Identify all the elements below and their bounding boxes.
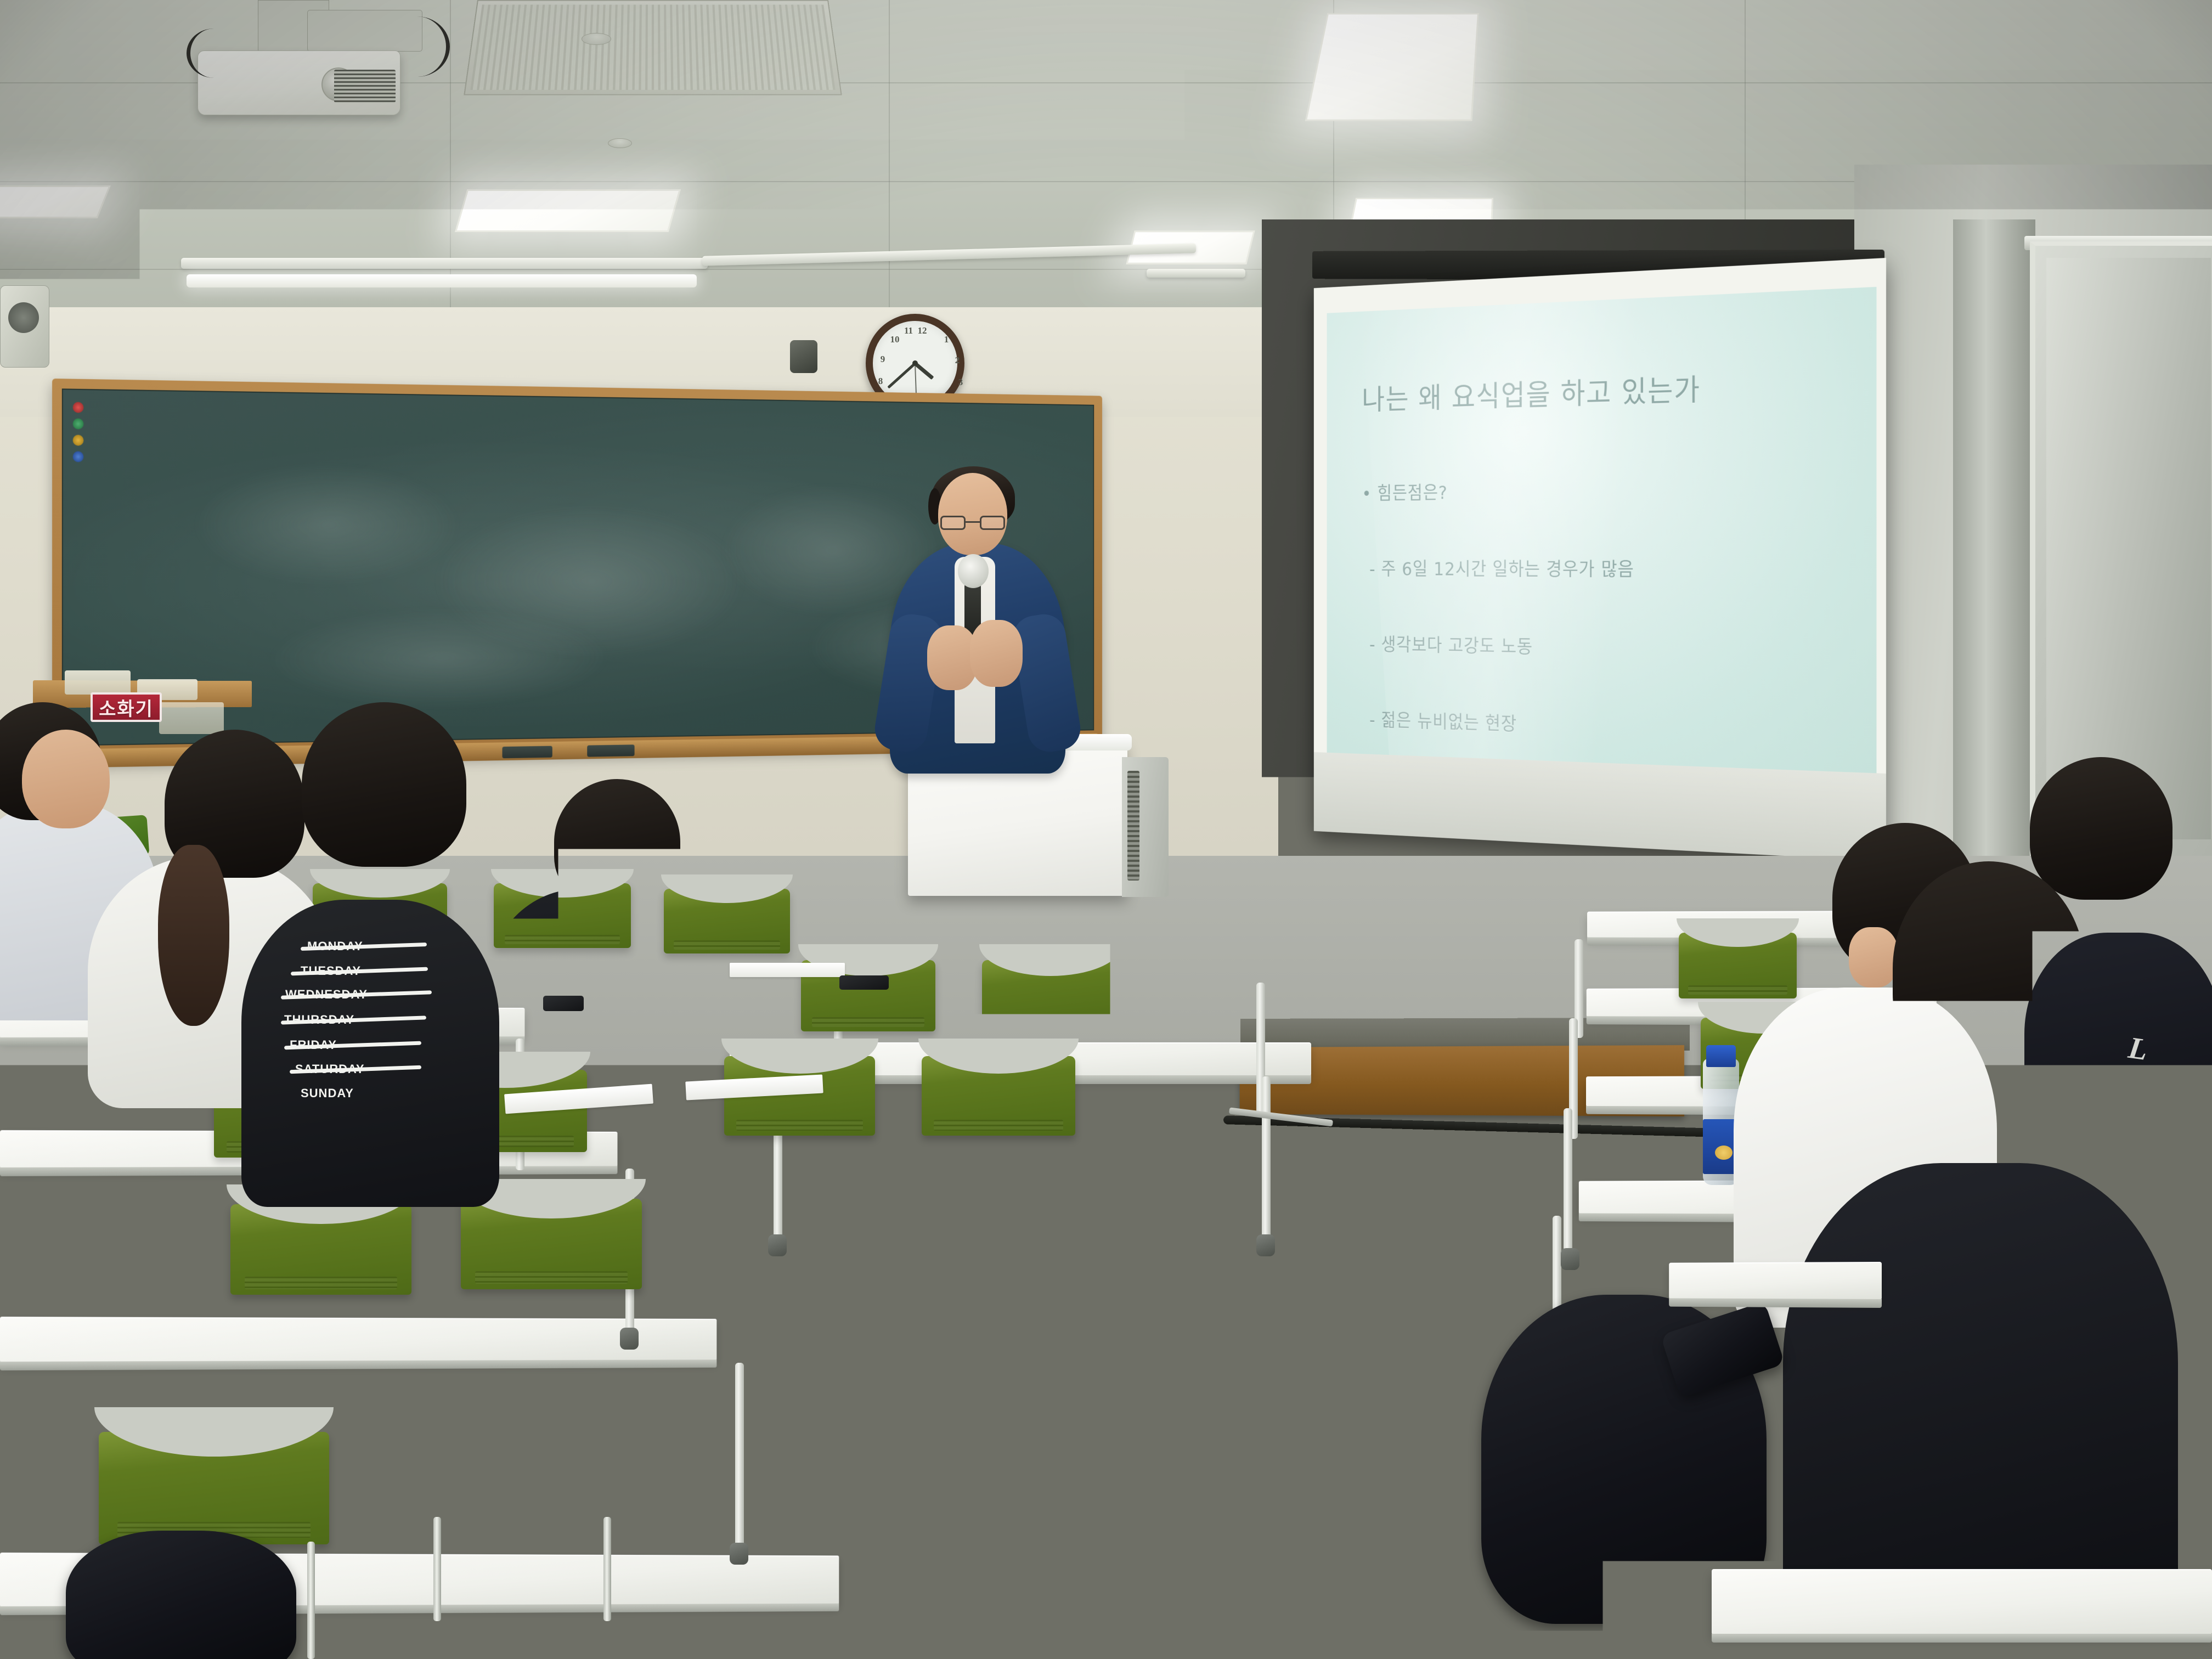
chair-leg (433, 1517, 441, 1621)
clock-center-pin (912, 360, 918, 366)
blackboard-eraser[interactable] (503, 746, 552, 759)
window-blind[interactable] (2046, 258, 2211, 839)
classroom-scene: 12 1 2 3 4 5 6 7 8 9 10 11 (0, 0, 2212, 1659)
board-magnet[interactable] (73, 402, 84, 413)
presenter-hand (970, 620, 1023, 687)
desk-leg (735, 1363, 744, 1549)
wall-mounted-sensor (790, 340, 817, 373)
chair-leg (307, 1542, 315, 1659)
desk-leg (1564, 1108, 1572, 1251)
student-hair (2030, 757, 2172, 900)
screen-glare (1359, 287, 1691, 774)
clock-numeral: 1 (941, 334, 952, 345)
desk[interactable] (0, 1317, 716, 1363)
chair[interactable] (230, 1204, 411, 1295)
desk-caster (768, 1234, 787, 1256)
projection-screen: 나는 왜 요식업을 하고 있는가 • 힘든점은? - 주 6일 12시간 일하는… (1314, 258, 1886, 861)
tshirt-line: SUNDAY (301, 1086, 354, 1101)
clock-numeral: 12 (917, 325, 928, 336)
desk[interactable] (1669, 1262, 1882, 1300)
microphone-head-icon[interactable] (958, 554, 989, 588)
slide-bullet-3: - 생각보다 고강도 노동 (1369, 630, 1533, 659)
chair[interactable] (461, 1199, 642, 1289)
glasses-icon (940, 516, 1005, 530)
blackboard-eraser[interactable] (587, 744, 634, 757)
chair[interactable] (1166, 888, 1284, 952)
chair[interactable] (406, 1410, 625, 1520)
student-hand (1849, 927, 1898, 988)
board-magnet[interactable] (73, 451, 84, 462)
floor-tile-line (1273, 1042, 1274, 1659)
board-magnet[interactable] (73, 435, 84, 445)
backpack[interactable] (66, 1531, 296, 1659)
projector-cable (384, 16, 450, 77)
desk-leg (905, 1607, 914, 1659)
presenter-head (938, 473, 1007, 555)
chair[interactable] (839, 889, 960, 953)
slide-bullet-2: - 주 6일 12시간 일하는 경우가 많음 (1369, 555, 1634, 582)
slide-title: 나는 왜 요식업을 하고 있는가 (1362, 366, 1701, 418)
smoke-detector-icon (582, 33, 611, 45)
slide-bullet-1: • 힘든점은? (1362, 478, 1447, 506)
paper-sheet[interactable] (730, 963, 845, 977)
clock-numeral: 11 (903, 325, 914, 336)
presentation-slide: 나는 왜 요식업을 하고 있는가 • 힘든점은? - 주 6일 12시간 일하는… (1327, 287, 1877, 774)
student-hair (554, 779, 680, 905)
ceiling-tile-line (889, 0, 890, 351)
ledge-item (159, 702, 224, 734)
desk-leg (1262, 1076, 1271, 1241)
water-bottle-cap[interactable] (1706, 1045, 1736, 1067)
slide-bullet-4: - 젊은 뉴비없는 현장 (1369, 706, 1517, 736)
desk-caster (620, 1328, 639, 1350)
chair[interactable] (982, 960, 1119, 1031)
desk-caster (1256, 1234, 1275, 1256)
ceiling-air-vent (464, 0, 842, 95)
clock-numeral: 10 (889, 334, 900, 345)
chair[interactable] (1679, 933, 1797, 998)
desk[interactable] (1712, 1569, 2212, 1635)
wall-conduit (181, 258, 708, 269)
fire-extinguisher-label: 소화기 (99, 694, 154, 721)
clock-minute-hand (887, 362, 916, 388)
phone-device[interactable] (839, 975, 889, 990)
ceiling-light-panel (0, 185, 111, 218)
ceiling-light-panel (455, 189, 681, 232)
ceiling-light-panel (1305, 13, 1479, 121)
ledge-item (65, 670, 131, 695)
fire-extinguisher-sign: 소화기 (91, 692, 162, 722)
smoke-detector-icon (608, 138, 632, 148)
projector-vent (334, 70, 396, 103)
chair[interactable] (99, 1432, 329, 1544)
ceiling-tile-line (450, 0, 451, 351)
clock-numeral: 9 (877, 354, 888, 365)
student-head (22, 730, 110, 828)
desk-caster (1561, 1248, 1579, 1270)
projector-cable (187, 29, 241, 78)
desk-leg (998, 1476, 1007, 1657)
lectern-vent-strip (1127, 771, 1139, 881)
desk-caster (992, 1651, 1008, 1659)
student-hair (1893, 861, 2085, 1075)
chair[interactable] (1009, 889, 1133, 953)
fluorescent-tube-light (187, 274, 697, 287)
clock-numeral: 2 (952, 355, 963, 366)
wall-speaker (0, 285, 49, 368)
clock-numeral: 8 (875, 376, 886, 387)
student-ponytail-hair (158, 845, 229, 1026)
board-magnet[interactable] (73, 418, 84, 429)
chair[interactable] (922, 1056, 1075, 1136)
wall-conduit (1147, 269, 1245, 278)
clock-numeral: 3 (955, 377, 966, 388)
chair-leg (603, 1517, 611, 1621)
desk-caster (730, 1543, 748, 1565)
